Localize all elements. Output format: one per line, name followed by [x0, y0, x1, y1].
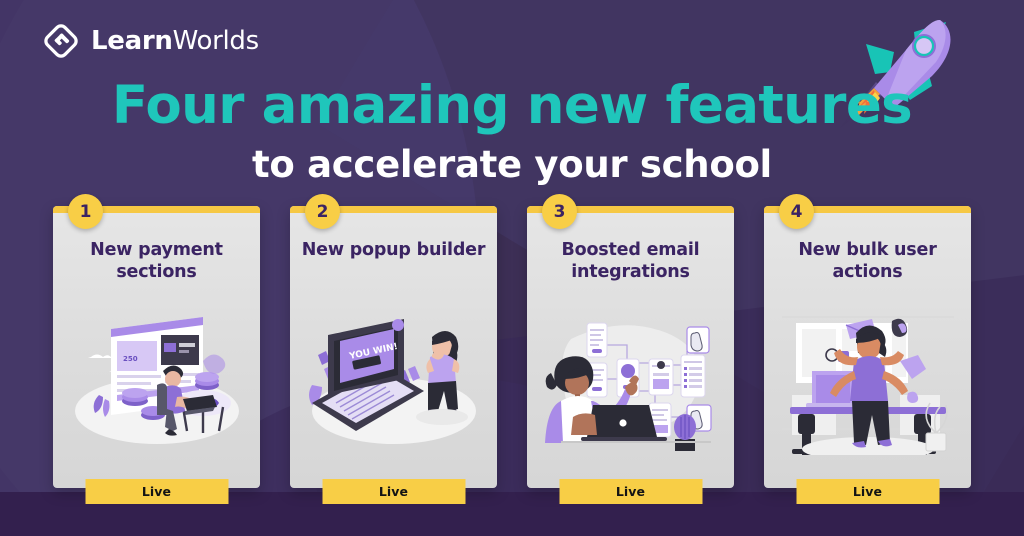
- card-number-badge: 3: [542, 194, 577, 229]
- card-number-badge: 1: [68, 194, 103, 229]
- card-title: New payment sections: [63, 239, 250, 284]
- card-title: Boosted email integrations: [537, 239, 724, 284]
- feature-card-4[interactable]: 4 New bulk user actions: [764, 206, 971, 488]
- card-title: New popup builder: [300, 239, 487, 261]
- promo-banner: LearnWorlds Four amazing new features to…: [0, 0, 1024, 536]
- card-number-badge: 4: [779, 194, 814, 229]
- card-status-button[interactable]: Live: [322, 479, 465, 504]
- email-flowchart-illustration: [527, 298, 734, 456]
- headline-secondary: to accelerate your school: [0, 144, 1024, 187]
- brand-logo[interactable]: LearnWorlds: [42, 22, 259, 60]
- headline-block: Four amazing new features to accelerate …: [0, 78, 1024, 186]
- learnworlds-diamond-logo-icon: [42, 22, 80, 60]
- bulk-actions-illustration: [764, 298, 971, 456]
- feature-cards-row: 1 New payment sections 250: [0, 206, 1024, 488]
- card-status-button[interactable]: Live: [85, 479, 228, 504]
- popup-builder-illustration: YOU WIN!: [290, 298, 497, 456]
- feature-card-3[interactable]: 3 Boosted email integrations: [527, 206, 734, 488]
- card-status-button[interactable]: Live: [796, 479, 939, 504]
- card-title: New bulk user actions: [774, 239, 961, 284]
- brand-name-light: Worlds: [173, 26, 259, 56]
- feature-card-1[interactable]: 1 New payment sections 250: [53, 206, 260, 488]
- payment-dashboard-illustration: 250: [53, 298, 260, 456]
- card-status-button[interactable]: Live: [559, 479, 702, 504]
- brand-name-bold: Learn: [91, 26, 173, 56]
- card-number-badge: 2: [305, 194, 340, 229]
- svg-text:250: 250: [123, 355, 138, 363]
- brand-logo-text: LearnWorlds: [91, 28, 259, 54]
- feature-card-2[interactable]: 2 New popup builder: [290, 206, 497, 488]
- headline-primary: Four amazing new features: [0, 78, 1024, 134]
